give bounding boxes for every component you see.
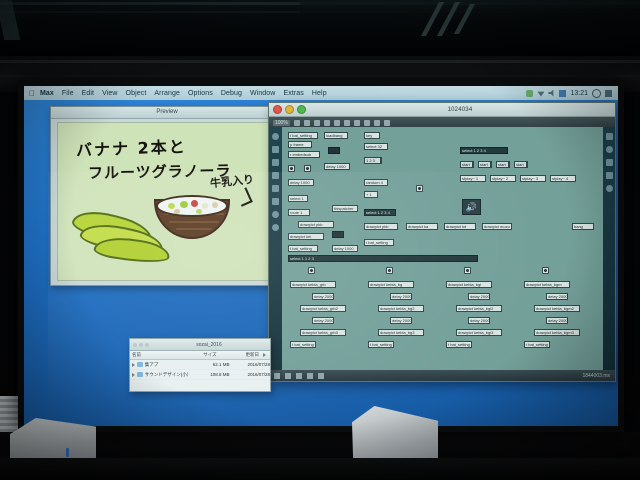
menu-arrange[interactable]: Arrange [150,90,184,97]
max-delay-object[interactable]: delay 2000 [468,293,490,300]
photo-scene:  Max File Edit View Object Arrange Opti… [0,0,640,480]
wall-trim [0,75,640,77]
max-object-box[interactable]: drawpict mozu [482,223,512,230]
grid-icon[interactable] [606,159,613,166]
pointer-icon[interactable] [272,146,279,153]
menu-edit[interactable]: Edit [78,90,98,97]
max-drawpict-object[interactable]: drawpict kebia_bgm2 [534,305,580,312]
max-object-box[interactable]: drawpict ka [406,223,438,230]
max-window-title: 1024034 [309,107,611,113]
max-object-box[interactable] [332,231,344,238]
fruit-piece [180,201,188,208]
object-icon[interactable] [304,120,310,126]
max-message-box[interactable]: start [460,161,474,168]
max-status-bar[interactable]: 1844003.mx [269,370,615,381]
max-drawpict-object[interactable]: drawpict kebia_bg [368,281,414,288]
max-bang-object[interactable] [464,267,471,274]
max-delay-object[interactable]: delay 2000 [312,317,334,324]
max-delay-object[interactable]: delay 2000 [546,317,568,324]
max-bang-object[interactable] [308,267,315,274]
panel-icon[interactable] [296,373,302,379]
fruit-piece [212,202,218,208]
wall-trim [0,60,640,63]
max-object-box[interactable]: r embedsub [288,151,320,158]
menu-debug[interactable]: Debug [217,90,246,97]
volume-icon[interactable] [548,90,555,97]
max-right-palette[interactable] [603,127,615,370]
max-object-box[interactable]: bang [572,223,594,230]
hand-icon[interactable] [272,159,279,166]
max-drawpict-object[interactable]: drawpict kebia_bgl2 [456,305,502,312]
pointer-icon[interactable] [274,373,280,379]
clock-icon[interactable] [606,146,613,153]
bowl-stripe [176,228,212,230]
max-object-box[interactable]: delay 1000 [324,163,350,170]
column-header-size[interactable]: サイズ [187,352,218,358]
max-object-box[interactable]: random 4 [364,179,388,186]
cereal-bowl-drawing [154,185,230,239]
max-object-box[interactable]: delay 1000 [288,179,314,186]
flag-icon[interactable] [307,373,313,379]
max-bang-object[interactable] [304,165,311,172]
fruit-piece [174,209,180,214]
fruit-piece [191,200,198,207]
menu-icon[interactable] [605,90,612,97]
disclosure-triangle-icon[interactable] [132,373,135,377]
max-bang-object[interactable] [288,165,295,172]
add-icon[interactable] [374,120,380,126]
menu-help[interactable]: Help [308,90,331,97]
sort-arrow-icon[interactable] [263,353,270,357]
max-delay-object[interactable]: delay 2000 [390,293,412,300]
max-drawpict-object[interactable]: drawpict kebia_bg3 [378,329,424,336]
max-trigger-object[interactable]: t bat_setting [524,341,550,348]
gear-icon[interactable] [606,185,613,192]
max-object-box[interactable]: drawpict kd [444,223,476,230]
max-drawpict-object[interactable]: drawpict kebia_bgm3 [534,329,580,336]
max-object-box[interactable]: sfplay~ 2 [490,175,516,182]
column-header-name[interactable]: 名前 [130,352,187,358]
max-delay-object[interactable]: delay 2000 [546,293,568,300]
ceiling [0,0,640,58]
button-icon[interactable] [364,120,370,126]
max-object-box[interactable]: t bat_setting [288,245,318,252]
max-object-box[interactable] [328,147,340,154]
mac-menu-bar[interactable]:  Max File Edit View Object Arrange Opti… [24,86,618,100]
milk-surface [156,195,228,217]
max-object-box[interactable]: 🔊 [462,199,481,215]
file-name: サウンドデザイン(小） [145,372,201,378]
max-object-box[interactable]: select 32 [364,143,388,150]
max-drawpict-object[interactable]: drawpict kebia_bgm [524,281,570,288]
finder-file-list[interactable]: 集アプ62.1 MB2016/07/28サウンドデザイン(小）108.8 MB2… [130,360,270,380]
folder-icon [137,372,143,377]
max-drawpict-object[interactable]: drawpict kebia_grb2 [300,305,346,312]
max-object-box[interactable]: + 1 [364,191,378,198]
folder-icon [137,362,143,367]
max-trigger-object[interactable]: t bat_setting [368,341,394,348]
finder-row[interactable]: 集アプ62.1 MB2016/07/28 [130,360,270,370]
fruit-piece [196,209,202,214]
dropbox-icon[interactable] [526,90,533,97]
drawing-window[interactable]: Preview バナナ 2本と フルーツグラノーラ 牛乳入り [50,106,284,286]
max-message-box[interactable]: start [514,161,528,168]
max-bang-object[interactable] [386,267,393,274]
finder-window[interactable]: sozai_2016 名前 サイズ 更新日 集アプ62.1 MB2016/07/… [129,338,271,392]
menu-window[interactable]: Window [246,90,280,97]
menu-status-area[interactable]: 13:21 [526,89,614,98]
max-object-box[interactable]: thispatcher [332,205,358,212]
dot-icon[interactable] [272,211,279,218]
projection-screen:  Max File Edit View Object Arrange Opti… [24,86,618,426]
max-object-box[interactable]: route 1 [288,209,310,216]
bluetooth-icon[interactable] [559,90,566,97]
finder-column-headers[interactable]: 名前 サイズ 更新日 [130,351,270,360]
picture-icon[interactable] [272,172,279,179]
zoom-button[interactable] [145,343,149,347]
menu-view[interactable]: View [98,90,121,97]
max-object-box[interactable]: select 1 [288,195,308,202]
fruit-piece [202,203,208,209]
apple-logo-icon[interactable]:  [28,89,36,98]
max-object-box[interactable]: sfplay~ 3 [520,175,546,182]
lock-icon[interactable] [384,120,390,126]
file-size: 108.8 MB [201,372,230,377]
file-date: 2016/07/28 [230,372,270,377]
menu-options[interactable]: Options [184,90,217,97]
max-object-box[interactable]: key [364,132,380,139]
max-object-box[interactable]: t bat_setting [364,239,394,246]
zoom-button[interactable] [297,105,306,114]
max-drawpict-object[interactable]: drawpict kebia_bgl3 [456,329,502,336]
max-message-box[interactable]: 1 2 3 [364,157,382,164]
max-patcher-window[interactable]: 1024034 100% [268,102,616,382]
max-object-box[interactable]: sfplay~ 1 [460,175,486,182]
max-object-box[interactable]: loadbang [324,132,348,139]
message-icon[interactable] [314,120,320,126]
max-object-box[interactable]: delay 1000 [332,245,358,252]
dot-icon[interactable] [272,224,279,231]
toggle-icon[interactable] [334,120,340,126]
bowl-stripe [169,221,219,223]
search-icon[interactable] [592,89,601,98]
max-object-box[interactable]: select 1 2 3 4 [460,147,508,154]
max-object-box[interactable]: p frame [288,141,312,148]
minimize-button[interactable] [139,343,143,347]
pen-icon[interactable] [272,185,279,192]
menu-extras[interactable]: Extras [279,90,307,97]
max-drawpict-object[interactable]: drawpict kebia_grb [290,281,336,288]
max-object-box[interactable]: drawpict kei [288,233,324,240]
finder-window-title: sozai_2016 [151,342,267,348]
menu-object[interactable]: Object [122,90,151,97]
drawing-text-line1: バナナ 2本と [76,133,187,161]
pointer-icon[interactable] [294,120,300,126]
number-icon[interactable] [344,120,350,126]
column-header-date[interactable]: 更新日 [219,352,261,358]
finder-row[interactable]: サウンドデザイン(小）108.8 MB2016/07/28 [130,370,270,380]
file-date: 2016/07/28 [230,362,270,367]
file-size: 62.1 MB [201,362,230,367]
max-drawpict-object[interactable]: drawpict kebia_grb3 [300,329,346,336]
max-delay-object[interactable]: delay 2000 [468,317,490,324]
menu-max[interactable]: Max [36,90,58,97]
drawing-canvas[interactable]: バナナ 2本と フルーツグラノーラ 牛乳入り [57,122,278,281]
max-message-box[interactable]: start [478,161,492,168]
pencil-icon[interactable] [318,373,324,379]
laptop-screen-glow [66,448,69,457]
arrow-left-icon[interactable] [272,198,279,205]
max-bang-object[interactable] [542,267,549,274]
menu-clock[interactable]: 13:21 [570,90,588,97]
max-object-box[interactable]: drawpict pkb [364,223,398,230]
max-title-bar[interactable]: 1024034 [269,103,615,117]
max-patch-canvas[interactable]: t bat_settingp framer embedsubdelay 1000… [282,127,603,370]
disclosure-triangle-icon[interactable] [132,363,135,367]
arrow-icon [235,187,252,206]
max-object-box[interactable]: t bat_setting [288,132,318,139]
circle-icon[interactable] [272,133,279,140]
desk-surface [0,458,640,480]
file-name: 集アプ [145,362,201,368]
video-icon[interactable] [606,133,613,140]
finder-title-bar[interactable]: sozai_2016 [130,339,270,351]
max-bang-object[interactable] [416,185,423,192]
panel-icon[interactable] [606,172,613,179]
close-button[interactable] [133,343,137,347]
max-window-body: t bat_settingp framer embedsubdelay 1000… [269,127,615,370]
max-trigger-object[interactable]: t bat_setting [446,341,472,348]
slider-icon[interactable] [354,120,360,126]
fruit-piece [168,203,175,209]
max-status-filename: 1844003.mx [582,373,610,379]
max-object-box[interactable]: drawpict pkb [298,221,334,228]
comment-icon[interactable] [285,373,291,379]
minimize-button[interactable] [285,105,294,114]
max-drawpict-object[interactable]: drawpict kebia_bg2 [378,305,424,312]
max-trigger-object[interactable]: t bat_setting [290,341,316,348]
max-delay-object[interactable]: delay 2000 [390,317,412,324]
max-select-object[interactable]: select 1 1 2 3 [288,255,478,262]
max-object-box[interactable]: select 1 2 3 4 [364,209,396,216]
zoom-level-label[interactable]: 100% [273,120,290,126]
ceiling-frame [0,0,20,40]
max-drawpict-object[interactable]: drawpict kebia_bgl [446,281,492,288]
drawing-window-title: Preview [51,107,283,119]
comment-icon[interactable] [324,120,330,126]
max-object-box[interactable]: sfplay~ 4 [550,175,576,182]
max-message-box[interactable]: start [496,161,510,168]
menu-file[interactable]: File [58,90,78,97]
close-button[interactable] [273,105,282,114]
max-delay-object[interactable]: delay 2000 [312,293,334,300]
wifi-icon[interactable] [537,90,544,97]
max-left-palette[interactable] [269,127,282,370]
